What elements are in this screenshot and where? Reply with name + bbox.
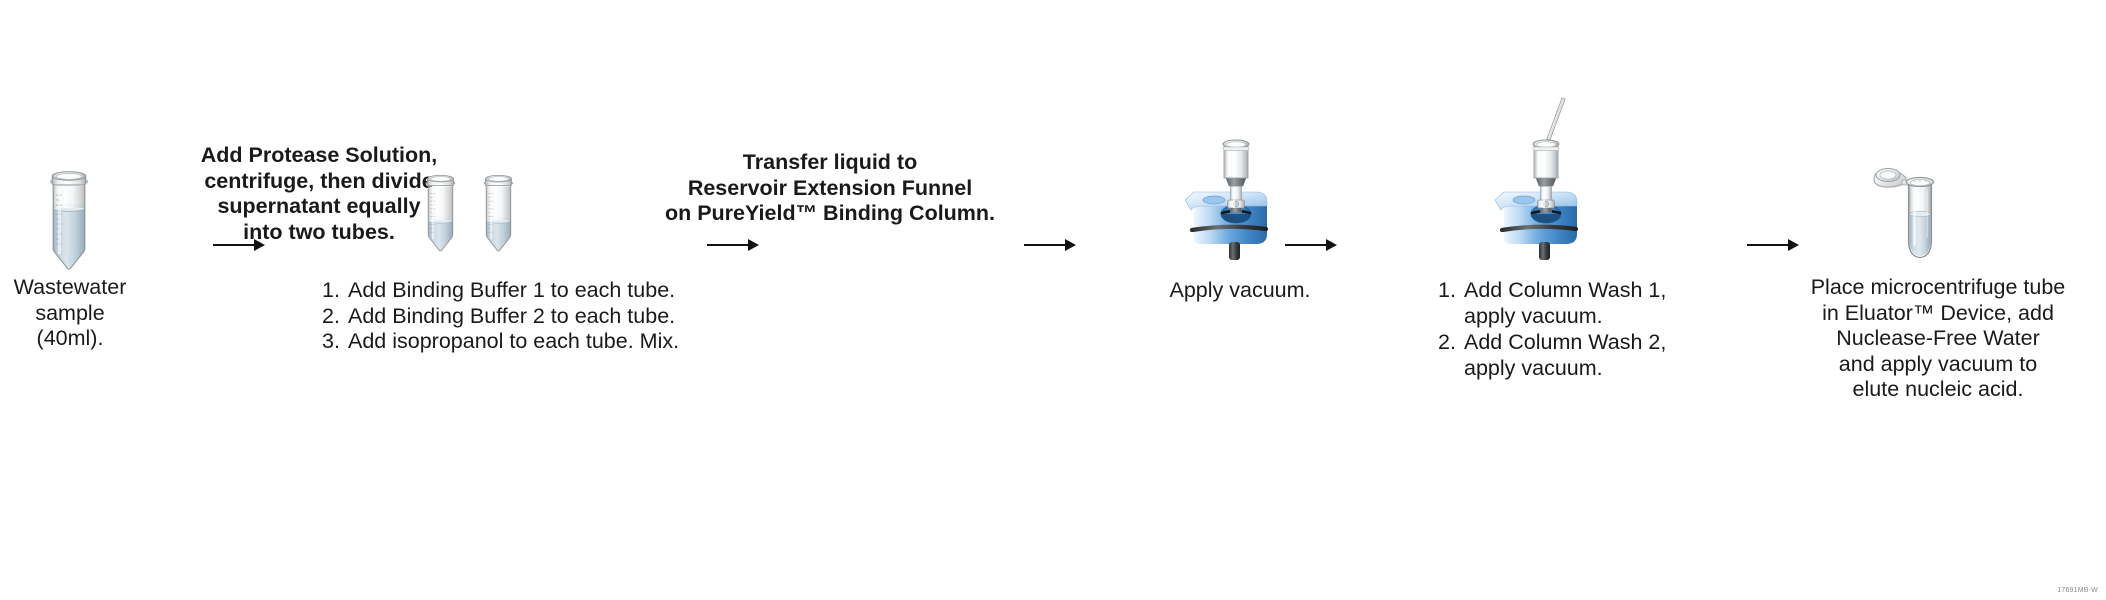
list-item-text: Add Column Wash 1, apply vacuum. bbox=[1464, 278, 1666, 329]
pipette-tip-icon bbox=[1546, 98, 1565, 144]
step-3-caption: Apply vacuum. bbox=[1115, 278, 1365, 304]
list-item-text: Add Binding Buffer 1 to each tube. bbox=[348, 278, 675, 304]
protocol-flow-diagram: Wastewater sample (40ml). Add Protease S… bbox=[0, 0, 2106, 600]
step-3-instruction: Transfer liquid to Reservoir Extension F… bbox=[570, 150, 1090, 227]
list-item: 3. Add isopropanol to each tube. Mix. bbox=[322, 329, 742, 355]
list-item: 1. Add Column Wash 1, apply vacuum. bbox=[1438, 278, 1708, 329]
step-1-caption: Wastewater sample (40ml). bbox=[0, 275, 140, 352]
list-item-text: Add Column Wash 2, apply vacuum. bbox=[1464, 330, 1666, 381]
list-item-number: 3. bbox=[322, 329, 348, 355]
list-item-number: 2. bbox=[1438, 330, 1464, 356]
vacuum-manifold-with-pipette-graphic bbox=[1492, 95, 1602, 260]
list-item-number: 1. bbox=[322, 278, 348, 304]
conical-tube-pair-graphic-right bbox=[476, 168, 521, 256]
vacuum-manifold-graphic bbox=[1182, 130, 1292, 260]
flow-arrow-2 bbox=[707, 238, 759, 252]
flow-arrow-3 bbox=[1024, 238, 1076, 252]
conical-tube-pair-graphic-left bbox=[418, 168, 463, 256]
list-item: 2. Add Column Wash 2, apply vacuum. bbox=[1438, 330, 1708, 381]
flow-arrow-step4-to-5 bbox=[1747, 238, 1799, 252]
list-item: 2. Add Binding Buffer 2 to each tube. bbox=[322, 304, 742, 330]
step-5-caption: Place microcentrifuge tube in Eluator™ D… bbox=[1775, 275, 2101, 403]
figure-code: 17691MB-W bbox=[2057, 587, 2098, 594]
step-2-list: 1. Add Binding Buffer 1 to each tube. 2.… bbox=[322, 278, 742, 355]
list-item-number: 2. bbox=[322, 304, 348, 330]
flow-arrow-4 bbox=[1285, 238, 1337, 252]
step-4-list: 1. Add Column Wash 1, apply vacuum. 2. A… bbox=[1438, 278, 1708, 381]
conical-tube-single-graphic bbox=[40, 164, 98, 274]
list-item-text: Add isopropanol to each tube. Mix. bbox=[348, 329, 679, 355]
list-item: 1. Add Binding Buffer 1 to each tube. bbox=[322, 278, 742, 304]
list-item-number: 1. bbox=[1438, 278, 1464, 304]
list-item-text: Add Binding Buffer 2 to each tube. bbox=[348, 304, 675, 330]
microcentrifuge-tube-graphic bbox=[1862, 158, 1952, 268]
